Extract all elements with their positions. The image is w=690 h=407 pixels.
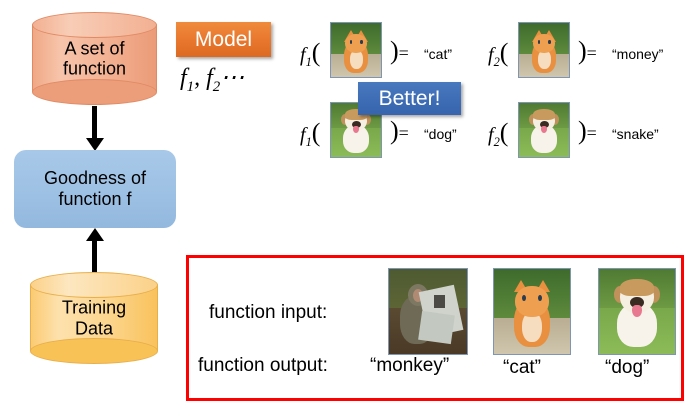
io-panel-output-monkey: “monkey”: [370, 355, 449, 377]
cat-head: [345, 34, 367, 53]
io-panel-output-cat: “cat”: [503, 357, 541, 379]
arrow-shaft: [92, 106, 97, 140]
close-paren: ): [578, 116, 587, 145]
cat-eye-left: [538, 40, 541, 44]
node-training-data: Training Data: [30, 272, 158, 364]
io-panel-input-label: function input:: [209, 302, 327, 324]
monkey-photo: [388, 268, 468, 355]
cylinder-bottom: [32, 79, 157, 105]
cat-head: [533, 34, 555, 53]
model-function-list: f1, f2⋯: [180, 63, 244, 96]
equals-sign: =: [587, 43, 597, 63]
badge-better: Better!: [358, 82, 461, 115]
node-function-set: A set of function: [32, 12, 157, 105]
example-fn-symbol: f1(: [300, 38, 320, 70]
close-paren: ): [578, 36, 587, 65]
monkey-newspaper-shadow: [434, 295, 445, 309]
label-line-1: Training: [30, 297, 158, 318]
arrow-head-up-icon: [86, 228, 104, 241]
example-close-paren-equals: )=: [578, 36, 597, 66]
node-training-data-label: Training Data: [30, 297, 158, 338]
cat-photo: [330, 22, 382, 78]
dog-head-cap: [620, 279, 653, 296]
cat-photo: [518, 22, 570, 78]
open-paren: (: [312, 38, 321, 67]
example-output-dog: “dog”: [424, 126, 457, 142]
dog-head-cap: [533, 109, 555, 120]
example-output-snake: “snake”: [612, 126, 659, 142]
cylinder-bottom: [30, 338, 158, 364]
io-panel-output-label: function output:: [198, 355, 328, 377]
badge-model: Model: [176, 22, 271, 57]
cat-photo: [493, 268, 571, 355]
close-paren: ): [390, 36, 399, 65]
f1-subscript: 1: [187, 79, 194, 95]
monkey-newspaper-lower: [418, 311, 454, 344]
cylinder-top: [30, 272, 158, 298]
cat-eye-left: [350, 40, 353, 44]
example-fn-symbol: f2(: [488, 38, 508, 70]
example-output-cat: “cat”: [424, 46, 452, 62]
arrow-shaft: [92, 240, 97, 276]
dog-photo: [598, 268, 676, 355]
example-close-paren-equals: )=: [390, 36, 409, 66]
label-line-2: function f: [44, 189, 146, 210]
label-line-2: Data: [30, 318, 158, 339]
cylinder-top: [32, 12, 157, 38]
label-line-1: A set of: [32, 38, 157, 59]
dog-tongue: [632, 305, 641, 317]
separator: ,: [194, 65, 200, 91]
example-fn-symbol: f2(: [488, 118, 508, 150]
example-close-paren-equals: )=: [390, 116, 409, 146]
example-fn-symbol: f1(: [300, 118, 320, 150]
node-function-set-label: A set of function: [32, 38, 157, 79]
badge-better-label: Better!: [379, 87, 441, 111]
node-goodness-label: Goodness of function f: [44, 168, 146, 209]
equals-sign: =: [399, 43, 409, 63]
label-line-2: function: [32, 59, 157, 80]
equals-sign: =: [587, 123, 597, 143]
example-close-paren-equals: )=: [578, 116, 597, 146]
badge-model-label: Model: [195, 28, 252, 52]
cat-eye-right: [548, 40, 551, 44]
open-paren: (: [500, 38, 509, 67]
label-line-1: Goodness of: [44, 168, 146, 189]
open-paren: (: [500, 118, 509, 147]
equals-sign: =: [399, 123, 409, 143]
slide-canvas: A set of function Goodness of function f…: [0, 0, 690, 407]
f1-symbol: f: [180, 65, 187, 91]
close-paren: ): [390, 116, 399, 145]
example-output-money: “money”: [612, 46, 663, 62]
node-goodness-of-function: Goodness of function f: [14, 150, 176, 228]
cat-head: [515, 286, 548, 317]
cat-eye-right: [360, 40, 363, 44]
f2-symbol: f: [206, 65, 213, 91]
dog-photo: [518, 102, 570, 158]
io-panel-output-dog: “dog”: [605, 357, 649, 379]
ellipsis: ⋯: [220, 65, 244, 91]
open-paren: (: [312, 118, 321, 147]
